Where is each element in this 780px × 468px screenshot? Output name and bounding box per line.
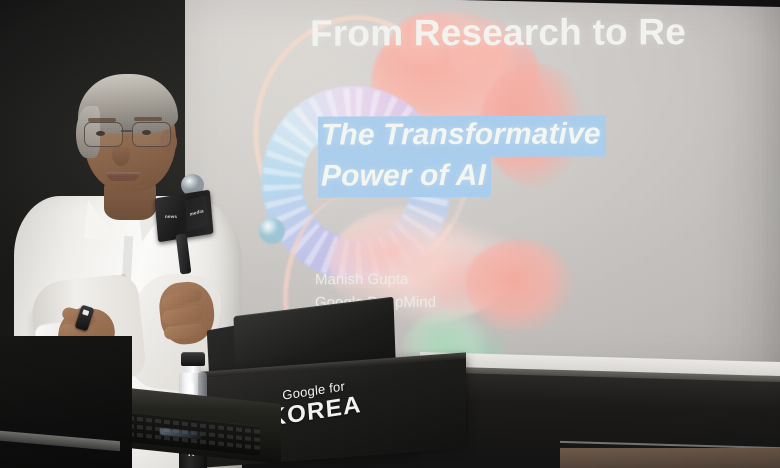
- slide-presenter-name: Manish Gupta: [315, 268, 436, 292]
- handheld-microphone: news media: [150, 178, 230, 288]
- slide-subtitle: The Transformative Power of AI: [318, 115, 606, 197]
- microphone-handle: [176, 233, 192, 274]
- speaker-glasses: [82, 122, 176, 146]
- microphone-flag-text-side: media: [185, 195, 209, 231]
- microphone-flag-text-front: news: [159, 202, 184, 232]
- artwork-sphere: [259, 218, 285, 245]
- glasses-bridge: [121, 130, 132, 132]
- presentation-photo: From Research to Re The Transformative P…: [0, 0, 780, 468]
- bottle-neck: [185, 365, 201, 373]
- slide-subtitle-line-2: Power of AI: [318, 156, 491, 197]
- slide-title: From Research to Re: [310, 11, 686, 55]
- slide-subtitle-line-1: The Transformative: [318, 115, 606, 157]
- speaker-eyebrow: [134, 117, 162, 121]
- speaker-mouth: [106, 172, 140, 181]
- bottle-cap: [181, 352, 205, 366]
- floor: [560, 448, 780, 468]
- glasses-lens-right: [132, 122, 171, 147]
- speaker-nose: [112, 144, 130, 166]
